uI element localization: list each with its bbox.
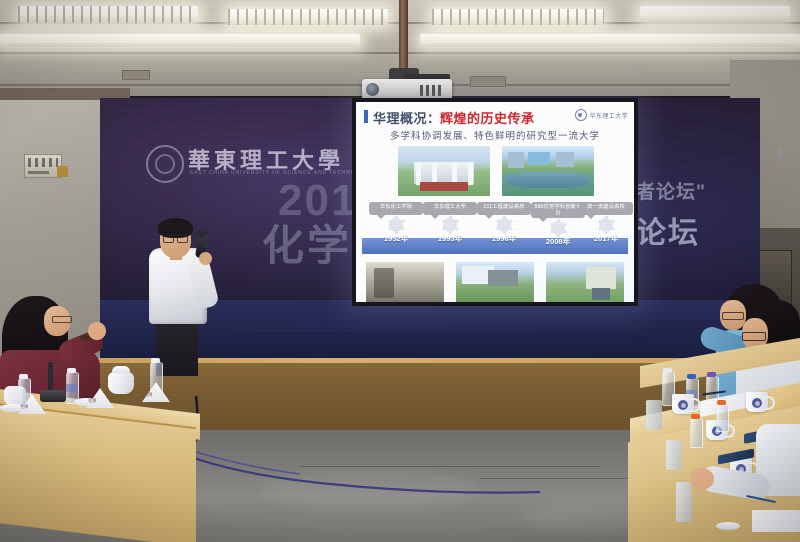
name-card-label: 名牌 [88,398,97,404]
bottle-cap [691,414,700,419]
desk-microphone-stem [48,362,53,392]
projection-screen: 华理概况： 辉煌的历史传承 华东理工大学 多学科协调发展、特色鲜明的研究型一流大… [352,98,638,306]
slide-logo-text: 华东理工大学 [590,111,628,120]
backdrop-forum-sub: 论坛 [636,208,700,252]
water-bottle [690,418,703,448]
backdrop-decor-mark: ✦ [770,140,790,169]
ceiling-light-panel [432,9,604,25]
attendee-right-3-hand [690,468,714,490]
slide-timeline: 华东化工学院 1952年 华东理工大学 1993年 211工程建设高校 1996… [356,202,634,260]
floor-highlight [260,470,480,510]
slide-subtitle: 多学科协调发展、特色鲜明的研究型一流大学 [356,128,634,142]
speaker-hand [199,252,212,265]
campus-entrance-photo [546,262,624,302]
slide-top-photo-row [398,146,594,196]
historic-gate-photo [366,262,444,302]
slide-title-highlight: 辉煌的历史传承 [440,108,535,127]
timeline-year: 2017年 [578,233,634,244]
wall-plaque-badge [57,166,68,177]
notebook [752,510,800,532]
campus-lake-photo [502,146,594,196]
name-card-label: 名牌 [20,404,29,410]
ceiling-light-panel [228,9,388,25]
conference-room-photo: 華東理工大學 EAST CHINA UNIVERSITY OF SCIENCE … [0,0,800,542]
presentation-slide: 华理概况： 辉煌的历史传承 华东理工大学 多学科协调发展、特色鲜明的研究型一流大… [356,102,634,302]
left-table-front [0,404,196,542]
teacup [746,392,768,412]
ceiling-vent [470,76,506,87]
bottle-cap [151,358,160,363]
slide-university-logo: 华东理工大学 [575,109,628,121]
university-seal-icon [146,145,184,183]
name-card-label: 名牌 [144,392,153,398]
bottle-label [66,384,77,392]
timeline-year: 1993年 [422,233,478,244]
bottle-cap [717,400,726,405]
university-seal-icon [575,109,587,121]
university-emblem-icon [752,398,762,408]
teacup [672,394,694,414]
timeline-item: 双一流建设高校 2017年 [578,202,634,244]
bottle-cap [707,372,716,377]
ceiling-light-strip [420,34,800,47]
timeline-item: 华东化工学院 1952年 [368,202,424,244]
ceiling-light-strip [0,34,360,47]
projector-vent [438,85,441,96]
university-emblem-icon [678,400,688,410]
timeline-item: 211工程建设高校 1996年 [476,202,532,244]
bottle-cap [687,374,696,379]
attendee-left-hand [88,322,106,340]
timeline-label: 985优势学科创新平台 [531,202,585,218]
glass-tumbler [646,400,662,430]
timeline-item: 华东理工大学 1993年 [422,202,478,244]
saucer [716,522,740,530]
campus-building-photo [456,262,534,302]
glasses-icon [163,234,188,241]
projector-mount-pole [399,0,408,72]
timeline-year: 1996年 [476,233,532,244]
slide-bottom-photo-row [366,262,624,302]
projector-vent [426,85,429,96]
glass-tumbler [676,482,692,522]
gear-icon [443,218,457,232]
glass-tumbler [666,440,682,470]
floor-seam [300,466,600,467]
projector-vent [432,85,435,96]
projector-vent [420,85,423,96]
slide-title-prefix: 华理概况： [373,108,441,127]
glasses-icon [52,316,72,323]
ceiling-light-panel [640,6,790,22]
timeline-label: 华东理工大学 [423,202,477,215]
gear-icon [599,218,613,232]
slide-title-accent-bar [364,110,368,123]
campus-gate-photo [398,146,490,196]
gear-icon [497,218,511,232]
desk-microphone-base[interactable] [40,390,66,402]
timeline-label: 双一流建设高校 [579,202,633,215]
timeline-label: 211工程建设高校 [477,202,531,215]
gear-icon [551,221,565,235]
bottle-cap [67,368,76,373]
ceiling-vent [122,70,150,80]
ceiling-light-panel [18,6,198,23]
gear-icon [389,218,403,232]
teapot-lid [112,366,130,373]
timeline-year: 1952年 [368,233,424,244]
projector-lens-icon [366,83,379,96]
water-bottle [716,404,729,432]
glasses-icon [742,332,766,341]
microphone-head-icon [196,230,207,238]
teapot [108,372,134,394]
bottle-cap [663,368,672,373]
bottle-cap [19,374,28,379]
timeline-label: 华东化工学院 [369,202,423,215]
glasses-icon [722,312,744,320]
